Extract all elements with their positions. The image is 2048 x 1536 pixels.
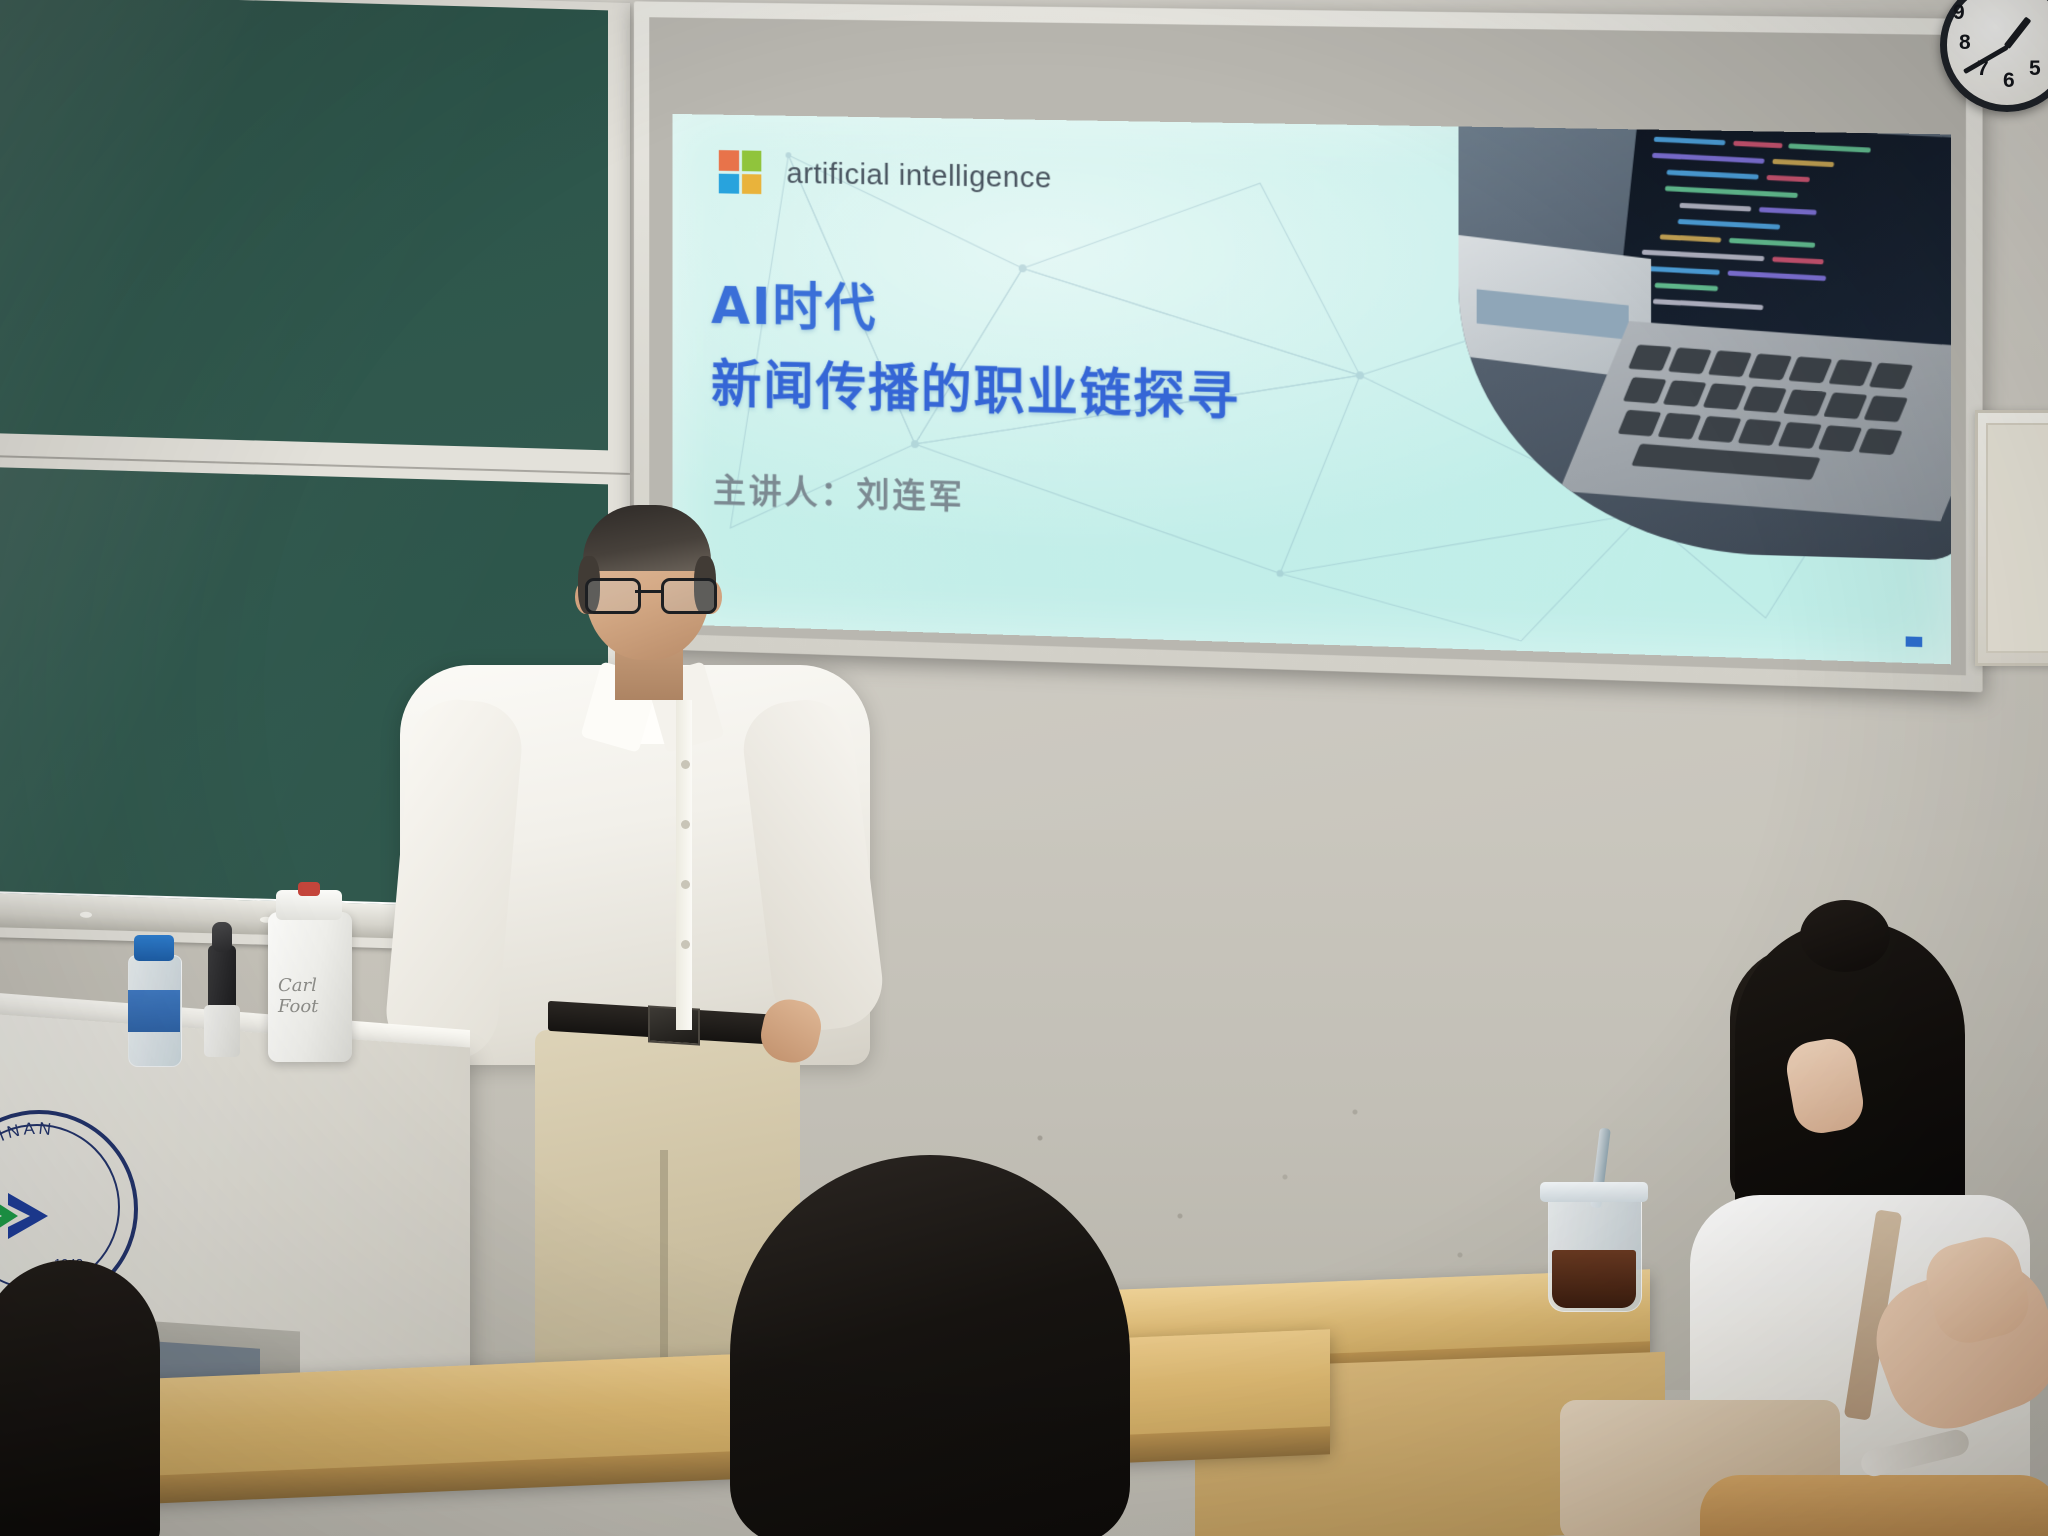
microphone-base bbox=[204, 1005, 240, 1057]
chalkboard-upper-frame bbox=[0, 0, 630, 473]
panel-inner-surface bbox=[1986, 423, 2048, 653]
slide-title-line2: 新闻传播的职业链探寻 bbox=[711, 343, 1240, 430]
student-chair bbox=[1700, 1475, 2048, 1536]
microsoft-logo-icon bbox=[719, 150, 762, 194]
university-seal-chevron-icon bbox=[0, 1185, 62, 1247]
speaker-shirt-placket bbox=[676, 700, 692, 1030]
water-bottle-cap bbox=[134, 935, 174, 961]
projector-ir-marker bbox=[1906, 636, 1923, 647]
clock-numeral-6: 6 bbox=[2003, 69, 2015, 93]
thermos-button bbox=[298, 882, 320, 896]
clock-numeral-9: 9 bbox=[1953, 1, 1965, 25]
clock-numeral-8: 8 bbox=[1959, 31, 1971, 55]
clock-numeral-5: 5 bbox=[2029, 57, 2041, 81]
microphone-head bbox=[212, 922, 232, 952]
laptop-keyboard bbox=[1559, 321, 1951, 521]
student-foreground-head bbox=[730, 1155, 1130, 1536]
slide-presenter-label: 主讲人：刘连军 bbox=[713, 464, 965, 519]
speaker-eyeglasses bbox=[583, 578, 715, 610]
drink-liquid bbox=[1552, 1250, 1636, 1308]
laptop-screen bbox=[1615, 122, 1951, 353]
drink-cup-lid bbox=[1540, 1182, 1648, 1202]
speaker-belt-buckle bbox=[648, 1005, 700, 1045]
slide-title-line1: AI时代 bbox=[711, 264, 877, 341]
chalkboard-glare bbox=[0, 0, 608, 450]
presentation-slide: artificial intelligence bbox=[673, 114, 1952, 664]
student-right-hair-bun bbox=[1800, 900, 1890, 972]
slide-brand-word: artificial intelligence bbox=[787, 157, 1052, 195]
classroom-photo: artificial intelligence bbox=[0, 0, 2048, 1536]
chalkboard-upper-surface bbox=[0, 0, 608, 450]
water-bottle-label bbox=[128, 990, 180, 1032]
student-left-head bbox=[0, 1260, 160, 1536]
thermos-script-label: Carl Foot bbox=[278, 975, 344, 1001]
wall-mounted-panel bbox=[1975, 410, 2048, 666]
clock-hour-hand bbox=[2004, 16, 2032, 49]
